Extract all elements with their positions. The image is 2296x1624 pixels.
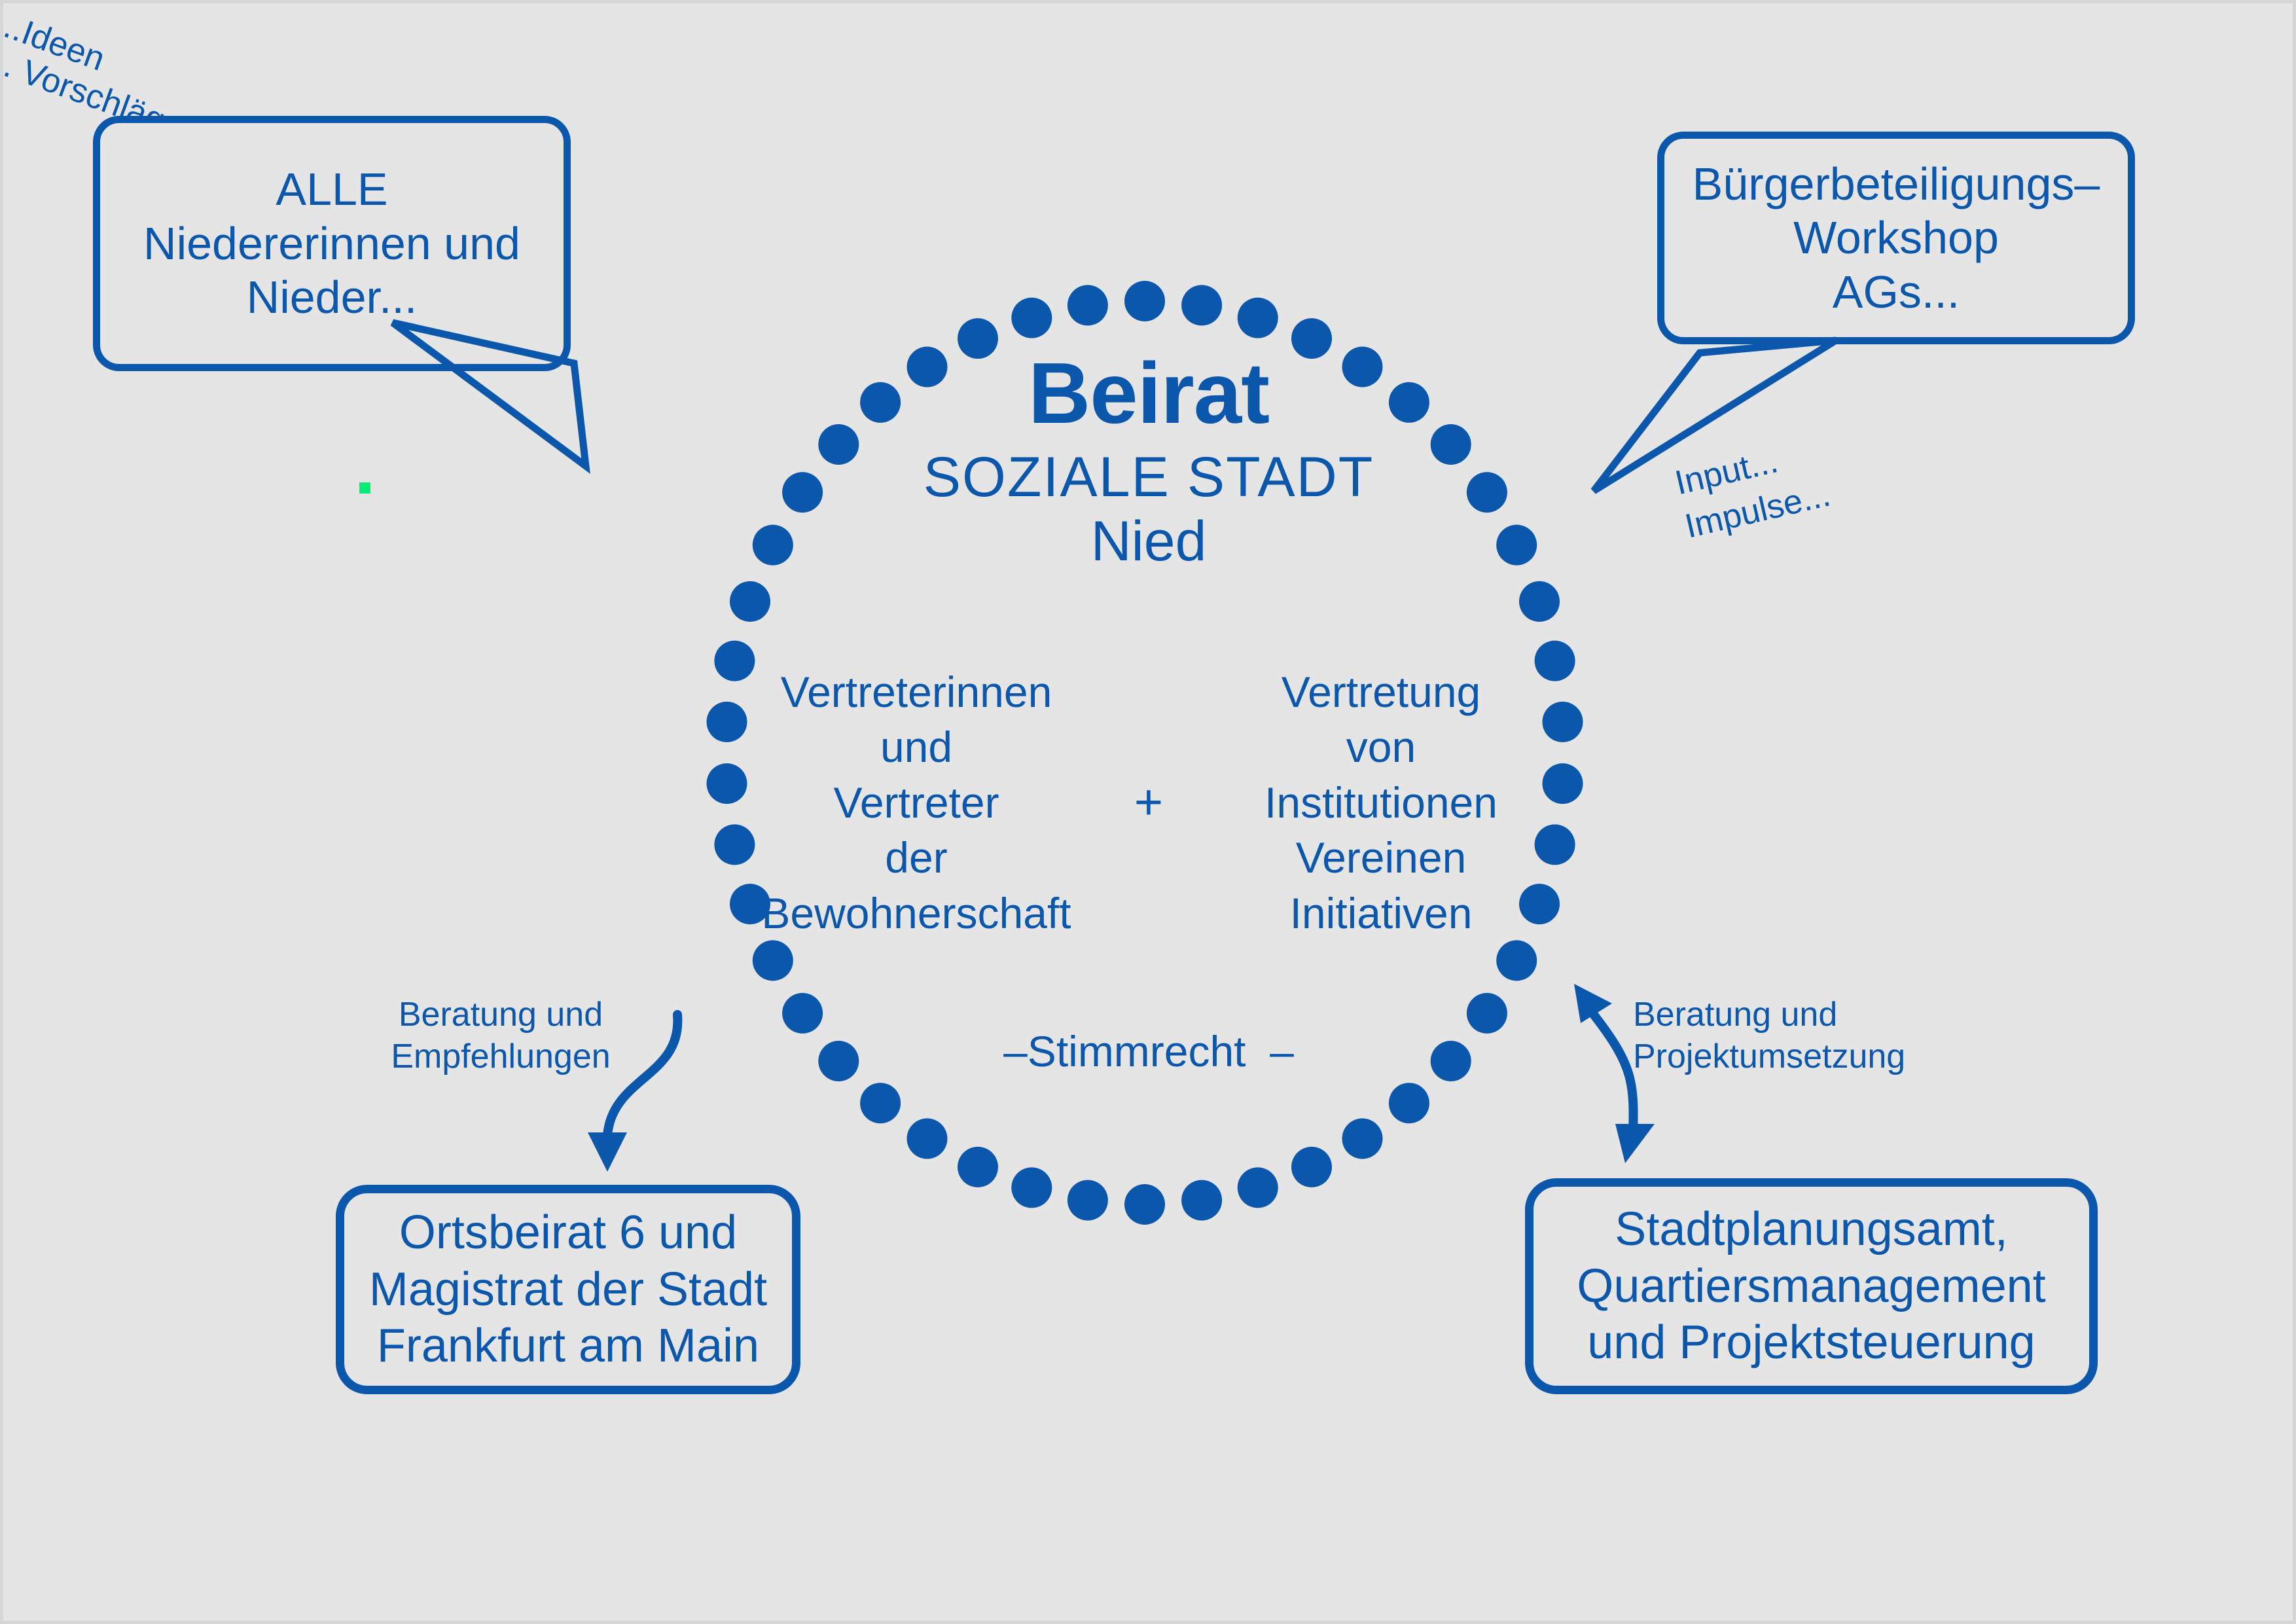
bubble-residents[interactable]: ALLENiedererinnen undNieder... xyxy=(93,116,571,371)
plus-icon: + xyxy=(1113,778,1185,827)
circle-dot xyxy=(907,1119,948,1159)
circle-dot xyxy=(1291,1147,1332,1187)
bubble-participation[interactable]: Bürgerbeteiligungs–WorkshopAGs... xyxy=(1657,132,2135,344)
circle-dot xyxy=(1124,281,1165,321)
arrow-right-head-up xyxy=(1574,984,1612,1023)
circle-dot xyxy=(753,940,793,981)
circle-dot xyxy=(1011,1167,1052,1208)
center-title-block: Beirat SOZIALE STADT Nied xyxy=(658,350,1640,573)
circle-dot xyxy=(1238,298,1278,338)
circle-dot xyxy=(1067,285,1108,325)
column-residents: VertreterinnenundVertreterderBewohnersch… xyxy=(720,664,1113,941)
circle-dot xyxy=(1496,940,1537,981)
circle-dot xyxy=(1067,1180,1108,1221)
voting-rights-note: –Stimmrecht – xyxy=(658,1026,1640,1076)
circle-dot xyxy=(730,581,770,622)
column-institutions: VertretungvonInstitutionenVereinenInitia… xyxy=(1185,664,1577,941)
box-ortsbeirat-magistrat[interactable]: Ortsbeirat 6 undMagistrat der StadtFrank… xyxy=(336,1185,800,1394)
circle-dot xyxy=(1342,1119,1383,1159)
subtitle-district: Nied xyxy=(658,510,1640,573)
circle-dot xyxy=(1124,1184,1165,1225)
diagram-canvas: ALLENiedererinnen undNieder... Bürgerbet… xyxy=(3,3,2293,1621)
box-stadtplanungsamt[interactable]: Stadtplanungsamt,Quartiersmanagementund … xyxy=(1525,1178,2098,1394)
arrow-left-head xyxy=(588,1132,627,1172)
green-marker-icon xyxy=(359,482,370,494)
circle-dot xyxy=(1181,1180,1222,1221)
page-title: Beirat xyxy=(658,350,1640,437)
subtitle-program: SOZIALE STADT xyxy=(658,446,1640,509)
circle-dot xyxy=(1181,285,1222,325)
circle-dot xyxy=(860,1083,901,1123)
annotation-beratung-empfehlungen: Beratung undEmpfehlungen xyxy=(370,994,632,1078)
circle-dot xyxy=(1389,1083,1429,1123)
circle-dot xyxy=(1011,298,1052,338)
circle-dot xyxy=(958,1147,998,1187)
circle-dot xyxy=(1238,1167,1278,1208)
annotation-input-impulse: Input...Impulse... xyxy=(1671,429,1835,549)
annotation-beratung-projektumsetzung: Beratung undProjektumsetzung xyxy=(1633,994,1947,1078)
arrow-right-head-down xyxy=(1615,1124,1655,1163)
membership-columns: VertreterinnenundVertreterderBewohnersch… xyxy=(671,664,1626,941)
